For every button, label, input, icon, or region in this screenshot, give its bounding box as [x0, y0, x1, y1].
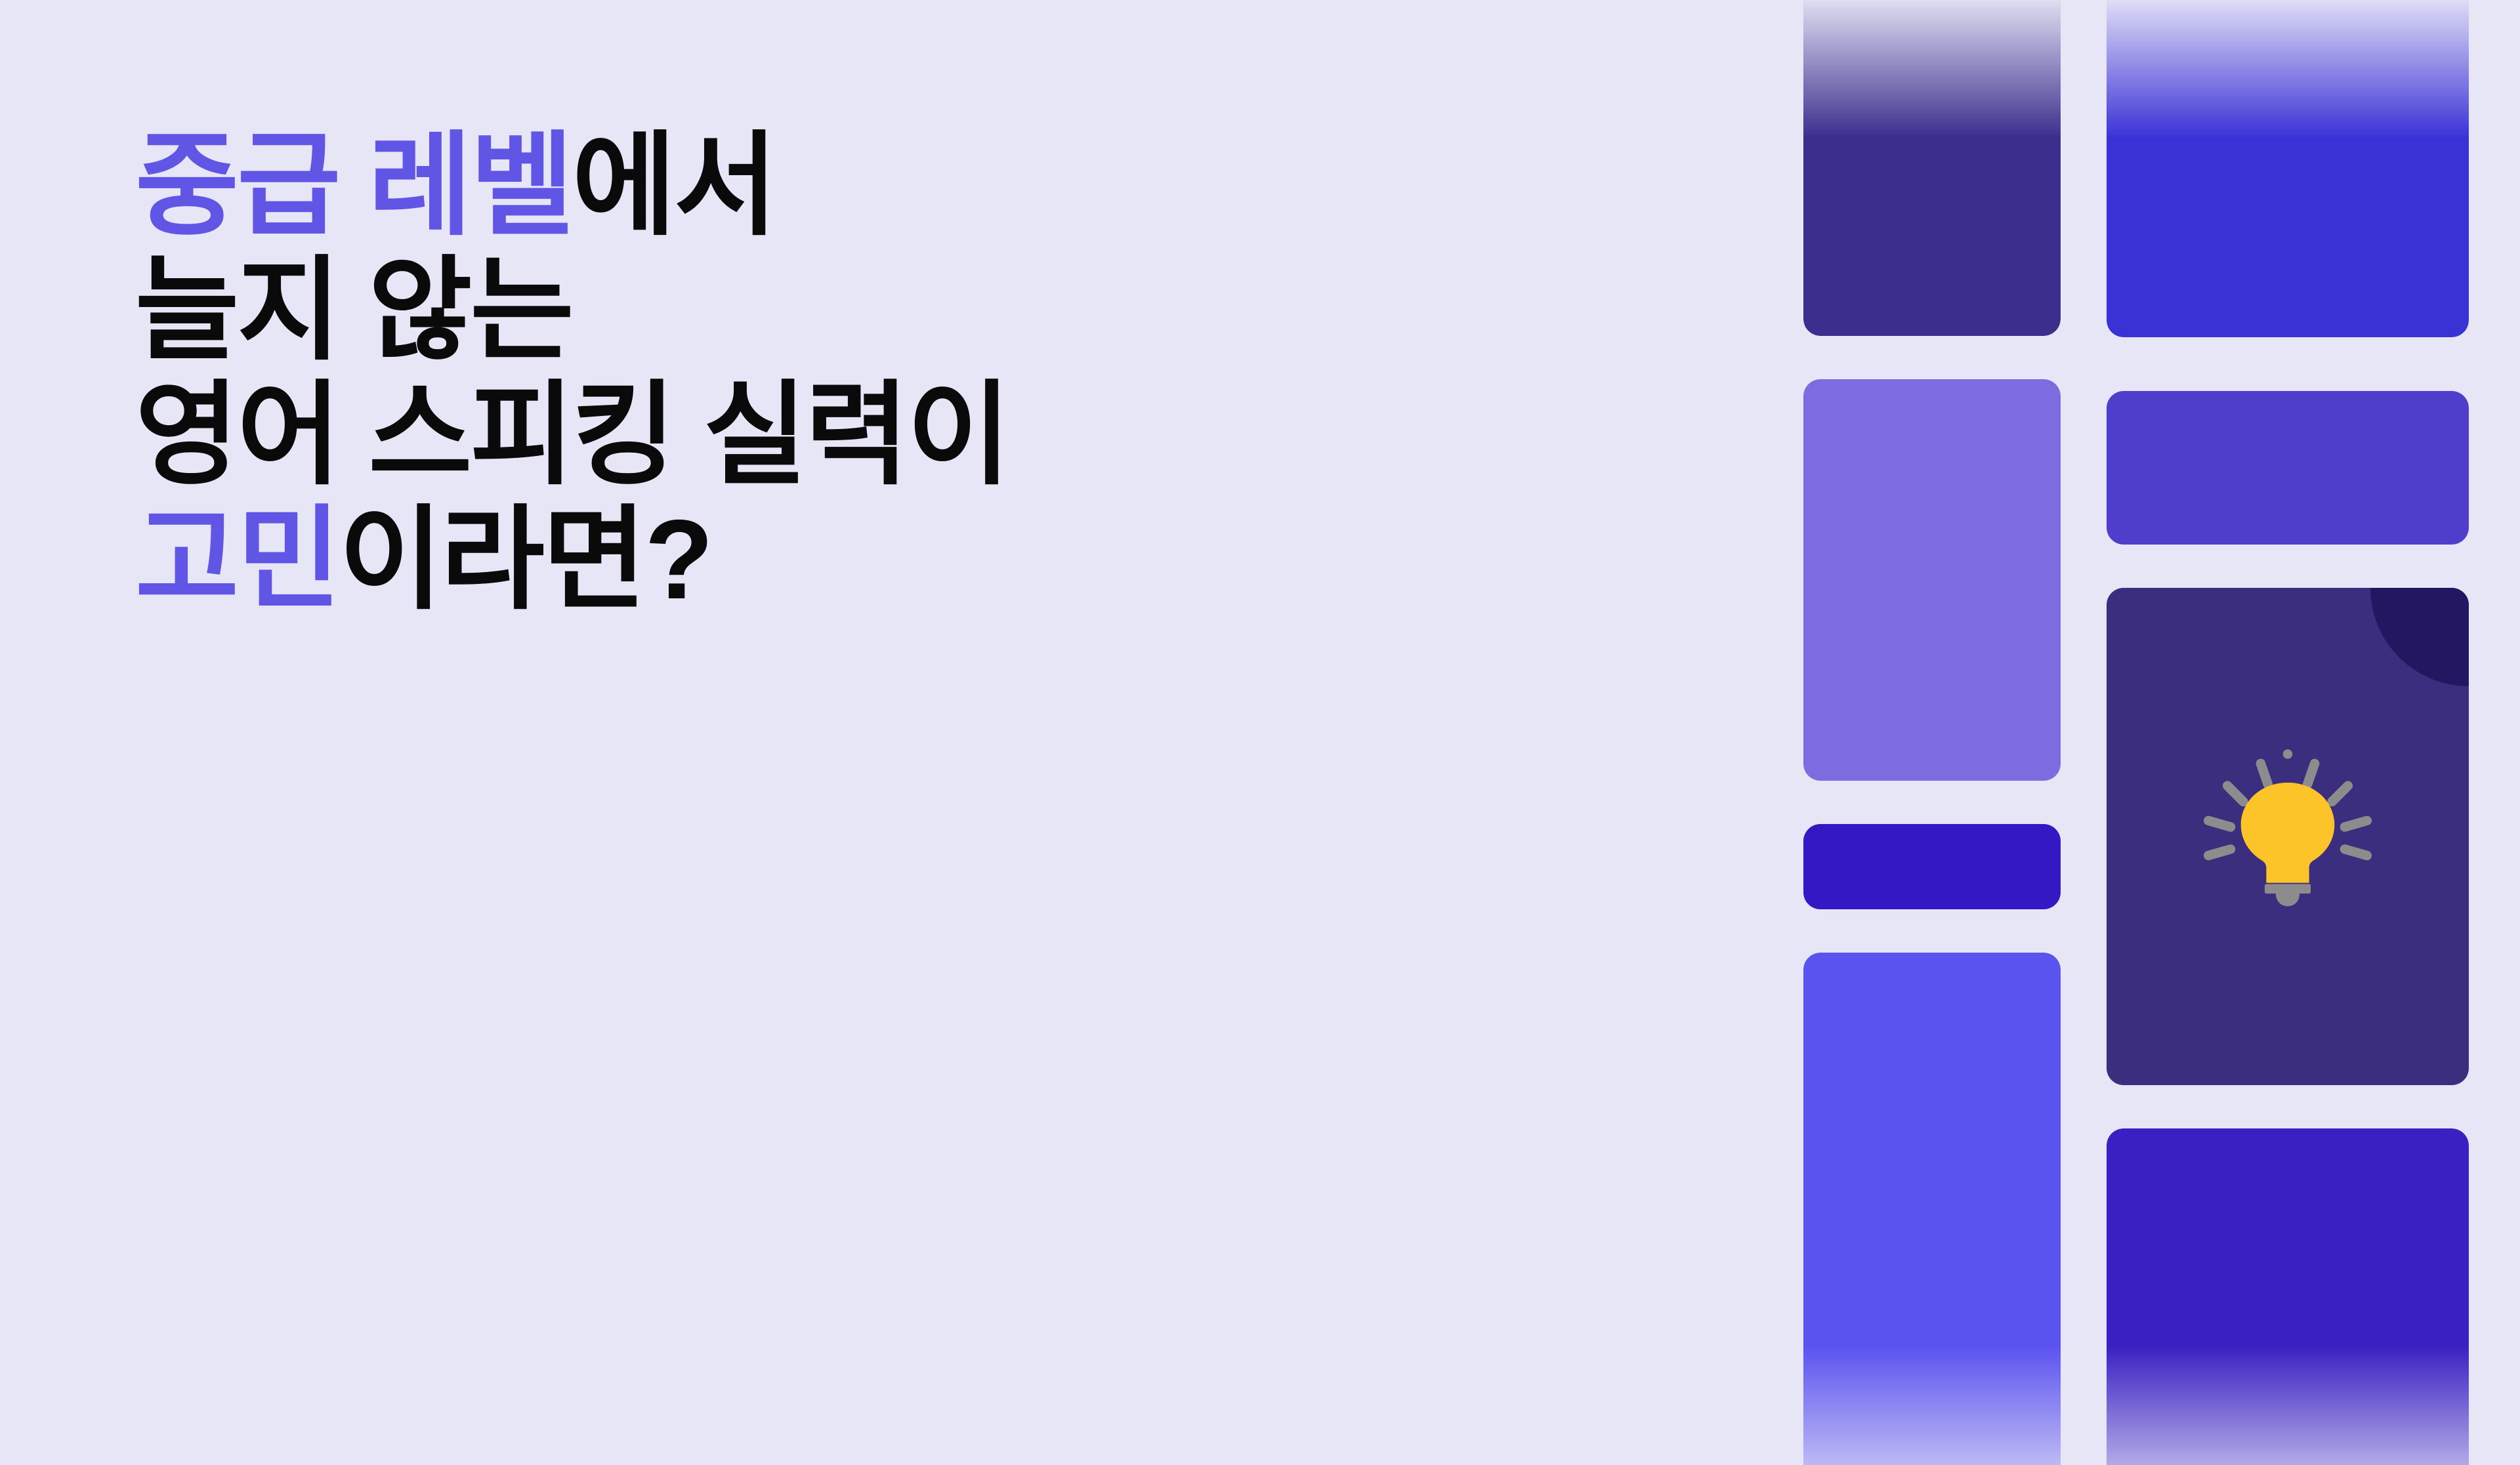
headline-line-3-plain: 영어 스피킹 실력이 [135, 372, 1009, 498]
tile-left-1 [1803, 0, 2061, 336]
tile-right-1 [2107, 0, 2469, 337]
headline-line-4-plain: 이라면? [339, 497, 711, 623]
headline-line-4: 고민이라면? [135, 497, 1677, 622]
tile-left-4 [1803, 953, 2061, 1465]
page-title: 중급 레벨에서 늘지 않는 영어 스피킹 실력이 고민이라면? [135, 123, 1677, 622]
decorative-tile-mosaic [1803, 0, 2520, 1465]
headline-line-4-accent: 고민 [135, 497, 339, 623]
headline-line-1: 중급 레벨에서 [135, 123, 1677, 248]
tile-left-3 [1803, 824, 2061, 909]
tile-right-3-idea-card [2107, 588, 2469, 1085]
poster-canvas: 중급 레벨에서 늘지 않는 영어 스피킹 실력이 고민이라면? [0, 0, 2520, 1465]
headline-line-2: 늘지 않는 [135, 248, 1677, 373]
headline-line-3: 영어 스피킹 실력이 [135, 373, 1677, 497]
tile-right-4 [2107, 1128, 2469, 1465]
headline-line-1-plain: 에서 [572, 123, 776, 249]
tile-right-2 [2107, 391, 2469, 545]
headline-line-1-accent: 중급 레벨 [135, 123, 572, 249]
headline-line-2-plain: 늘지 않는 [135, 247, 572, 373]
lightbulb-idea-icon [2107, 588, 2469, 1085]
tile-left-2 [1803, 379, 2061, 781]
